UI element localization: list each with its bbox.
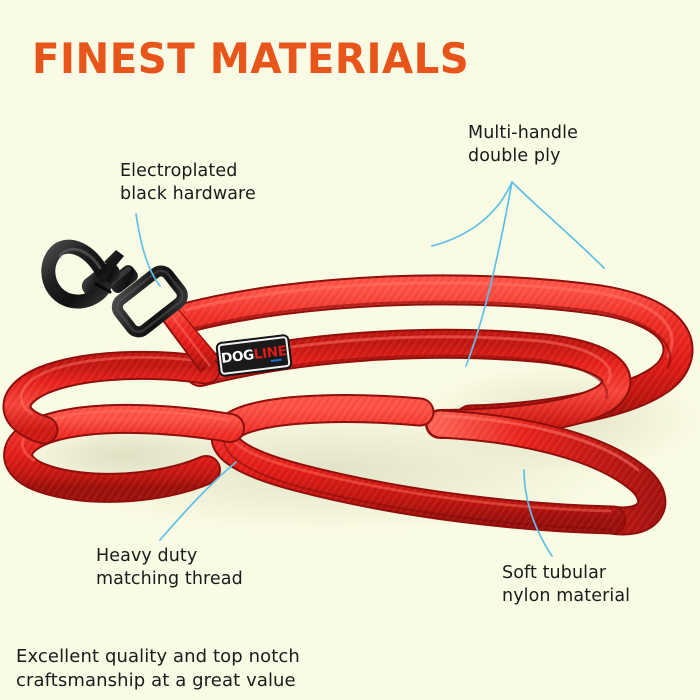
callout-electroplated-black-hardware: Electroplated black hardware	[120, 160, 256, 206]
callout-multi-handle-double-ply: Multi-handle double ply	[468, 122, 578, 168]
badge-dog-text: DOG	[221, 349, 255, 366]
callout-heavy-duty-matching-thread: Heavy duty matching thread	[96, 545, 243, 591]
badge-accent-underline	[271, 359, 282, 362]
product-infographic: FINEST MATERIALS Electroplated black har…	[0, 0, 700, 700]
page-title: FINEST MATERIALS	[32, 38, 469, 80]
footer-tagline: Excellent quality and top notch craftsma…	[16, 645, 300, 693]
leader-line-multihandle-left	[432, 182, 512, 246]
callout-soft-tubular-nylon-material: Soft tubular nylon material	[502, 562, 630, 608]
badge-wordmark: DOGLINE	[221, 345, 288, 366]
leader-line-multihandle-right	[512, 182, 604, 268]
